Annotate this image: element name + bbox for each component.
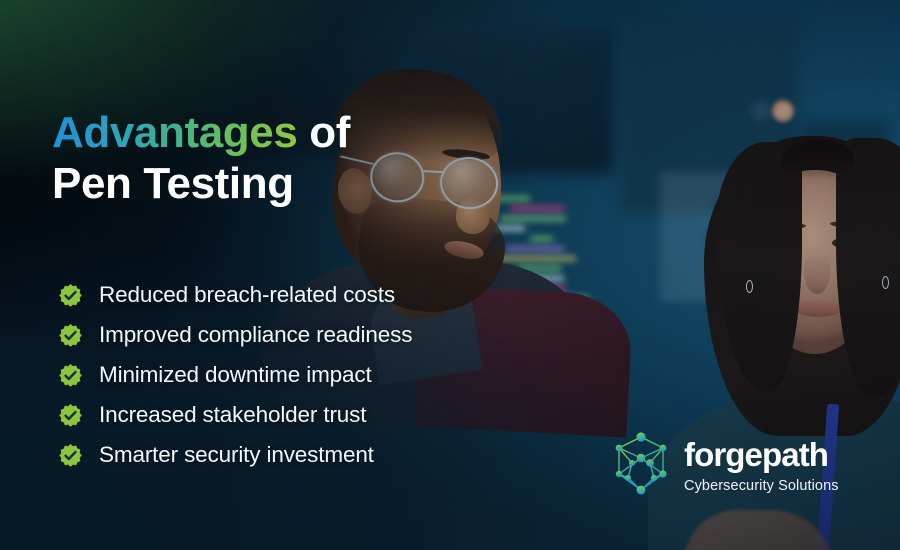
- title-accent-word: Advantages: [52, 108, 297, 157]
- brand-tagline: Cybersecurity Solutions: [684, 478, 839, 494]
- advantages-list: Reduced breach-related costs Improved co…: [58, 275, 412, 475]
- social-graphic-canvas: Advantages of Pen Testing Reduced breach…: [0, 0, 900, 550]
- brand-logo: forgepath Cybersecurity Solutions: [610, 430, 839, 500]
- list-item: Reduced breach-related costs: [58, 275, 412, 315]
- page-title: Advantages of Pen Testing: [52, 107, 350, 210]
- check-rosette-icon: [58, 283, 83, 308]
- title-line-2: Pen Testing: [52, 158, 350, 209]
- title-connector: of: [297, 108, 350, 157]
- list-item: Minimized downtime impact: [58, 355, 412, 395]
- brand-name: forgepath: [684, 438, 839, 471]
- list-item-label: Improved compliance readiness: [99, 322, 412, 348]
- check-rosette-icon: [58, 323, 83, 348]
- check-rosette-icon: [58, 363, 83, 388]
- check-rosette-icon: [58, 403, 83, 428]
- list-item: Improved compliance readiness: [58, 315, 412, 355]
- list-item-label: Increased stakeholder trust: [99, 402, 366, 428]
- list-item-label: Reduced breach-related costs: [99, 282, 395, 308]
- shield-network-nodes-icon: [610, 430, 672, 500]
- list-item: Increased stakeholder trust: [58, 395, 412, 435]
- overlay-content: Advantages of Pen Testing Reduced breach…: [0, 0, 900, 550]
- list-item: Smarter security investment: [58, 435, 412, 475]
- list-item-label: Smarter security investment: [99, 442, 374, 468]
- check-rosette-icon: [58, 443, 83, 468]
- list-item-label: Minimized downtime impact: [99, 362, 372, 388]
